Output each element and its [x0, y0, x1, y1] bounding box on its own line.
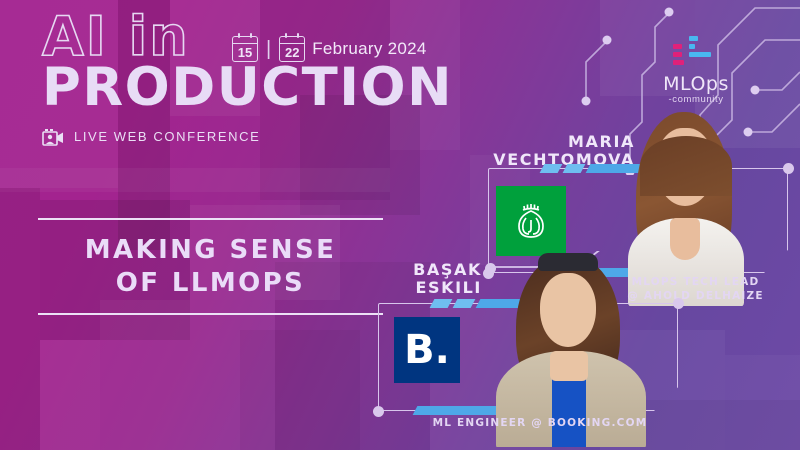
calendar-icon-start: 15	[232, 36, 258, 62]
video-conference-icon	[42, 128, 64, 146]
company-logo-booking-com: B.	[394, 317, 460, 383]
event-header: AI in PRODUCTION LIVE WEB CONFERENCE	[42, 10, 453, 146]
booking-com-b-icon: B.	[404, 330, 450, 370]
conference-poster: AI in PRODUCTION LIVE WEB CONFERENCE 15 …	[0, 0, 800, 450]
speaker-name-line1: BAŞAK	[360, 261, 482, 279]
event-date: 15 | 22 February 2024	[232, 36, 427, 62]
speaker-name-line2: ESKILI	[360, 279, 482, 297]
company-logo-ahold-delhaize	[496, 186, 566, 256]
frame-node-right	[783, 163, 794, 174]
rule-bottom	[38, 313, 383, 315]
date-month-year: February 2024	[312, 39, 426, 59]
speaker-role-line1: ML ENGINEER @ BOOKING.COM	[395, 417, 685, 431]
brand-name: MLOps	[636, 73, 756, 95]
speaker-role-basak: ML ENGINEER @ BOOKING.COM	[395, 417, 685, 431]
format-row: LIVE WEB CONFERENCE	[42, 128, 453, 146]
mlops-community-bars-icon	[667, 36, 725, 70]
date-day-end: 22	[285, 46, 299, 59]
session-title-line2: OF LLMOPS	[38, 267, 383, 300]
session-title-block: MAKING SENSE OF LLMOPS	[38, 218, 383, 315]
title-solid: PRODUCTION	[42, 60, 453, 116]
format-label: LIVE WEB CONFERENCE	[74, 129, 260, 144]
albert-heijn-lion-icon	[508, 198, 554, 244]
date-day-start: 15	[238, 46, 252, 59]
brand-tagline: -community	[636, 94, 756, 105]
speaker-name-basak: BAŞAK ESKILI	[360, 261, 482, 298]
mlops-community-logo[interactable]: MLOps -community	[636, 36, 756, 105]
session-title-line1: MAKING SENSE	[38, 234, 383, 267]
date-separator: |	[266, 38, 271, 61]
frame-node-left	[373, 406, 384, 417]
speaker-card-basak-eskili[interactable]: BAŞAK ESKILI B.	[360, 255, 690, 450]
calendar-icon-end: 22	[279, 36, 305, 62]
